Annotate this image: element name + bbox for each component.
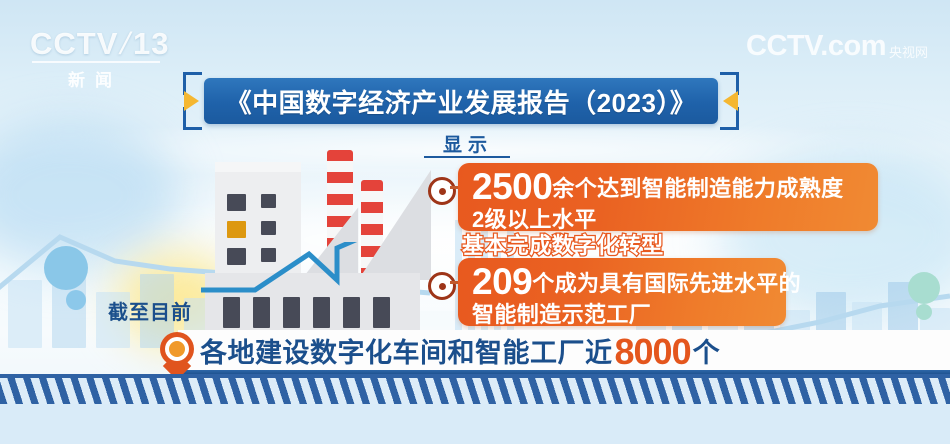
decor-dot-1 bbox=[66, 290, 86, 310]
cctv-logo-main: CCTV bbox=[30, 26, 118, 61]
cctv-logo-sub: 新闻 bbox=[30, 66, 160, 91]
stat-2-line-1: 209个成为具有国际先进水平的 bbox=[472, 262, 770, 302]
factory-roof-trendline bbox=[197, 242, 439, 317]
title-banner: 《中国数字经济产业发展报告（2023）》 bbox=[183, 72, 739, 130]
stat-1-line-1: 2500余个达到智能制造能力成熟度 bbox=[472, 167, 862, 207]
footer-stripes bbox=[0, 378, 950, 404]
title-box: 《中国数字经济产业发展报告（2023）》 bbox=[204, 78, 718, 124]
stat-2-number: 209 bbox=[472, 261, 532, 302]
infographic-stage: CCTV/13 新闻 CCTV.com 央视网 《中国数字经济产业发展报告（20… bbox=[0, 0, 950, 444]
footer-text-before: 各地建设数字化车间和智能工厂近 bbox=[200, 338, 613, 368]
footer-text-after: 个 bbox=[693, 338, 721, 368]
title-subtitle-underline bbox=[424, 156, 510, 158]
stat-2-line-2: 智能制造示范工厂 bbox=[472, 303, 770, 327]
footer-text: 各地建设数字化车间和智能工厂近8000个 bbox=[200, 336, 720, 369]
stat-1-number: 2500 bbox=[472, 166, 552, 207]
stat-panel-2: 209个成为具有国际先进水平的 智能制造示范工厂 bbox=[458, 258, 786, 326]
triangle-left-icon bbox=[184, 91, 199, 111]
as-of-label: 截至目前 bbox=[108, 296, 192, 325]
footer-pad bbox=[0, 404, 950, 444]
factory-illustration bbox=[205, 150, 455, 355]
stat-1-text: 余个达到智能制造能力成熟度 bbox=[552, 176, 843, 201]
watermark: CCTV.com 央视网 bbox=[746, 32, 928, 61]
bullseye-icon-2 bbox=[428, 272, 456, 300]
location-pin-icon bbox=[160, 332, 194, 376]
cctv-logo-rule bbox=[32, 61, 160, 63]
page-title: 《中国数字经济产业发展报告（2023）》 bbox=[226, 83, 697, 120]
bullseye-icon-1 bbox=[428, 177, 456, 205]
factory-tower-cap bbox=[215, 162, 301, 172]
triangle-right-icon bbox=[723, 91, 738, 111]
decor-balloon-blue bbox=[44, 246, 88, 290]
decor-dot-green bbox=[916, 304, 932, 320]
watermark-main: CCTV.com bbox=[746, 32, 886, 61]
stat-panel-1: 2500余个达到智能制造能力成熟度 2级以上水平 bbox=[458, 163, 878, 231]
title-subtitle: 显示 bbox=[408, 130, 528, 157]
decor-balloon-green bbox=[908, 272, 940, 304]
cctv-logo-number: 13 bbox=[133, 26, 169, 61]
cctv-logo: CCTV/13 新闻 bbox=[30, 28, 170, 91]
watermark-cn: 央视网 bbox=[889, 46, 928, 60]
footer-number: 8000 bbox=[615, 331, 691, 372]
free-text-line: 基本完成数字化转型 bbox=[462, 228, 664, 260]
stat-2-text: 个成为具有国际先进水平的 bbox=[532, 271, 801, 296]
